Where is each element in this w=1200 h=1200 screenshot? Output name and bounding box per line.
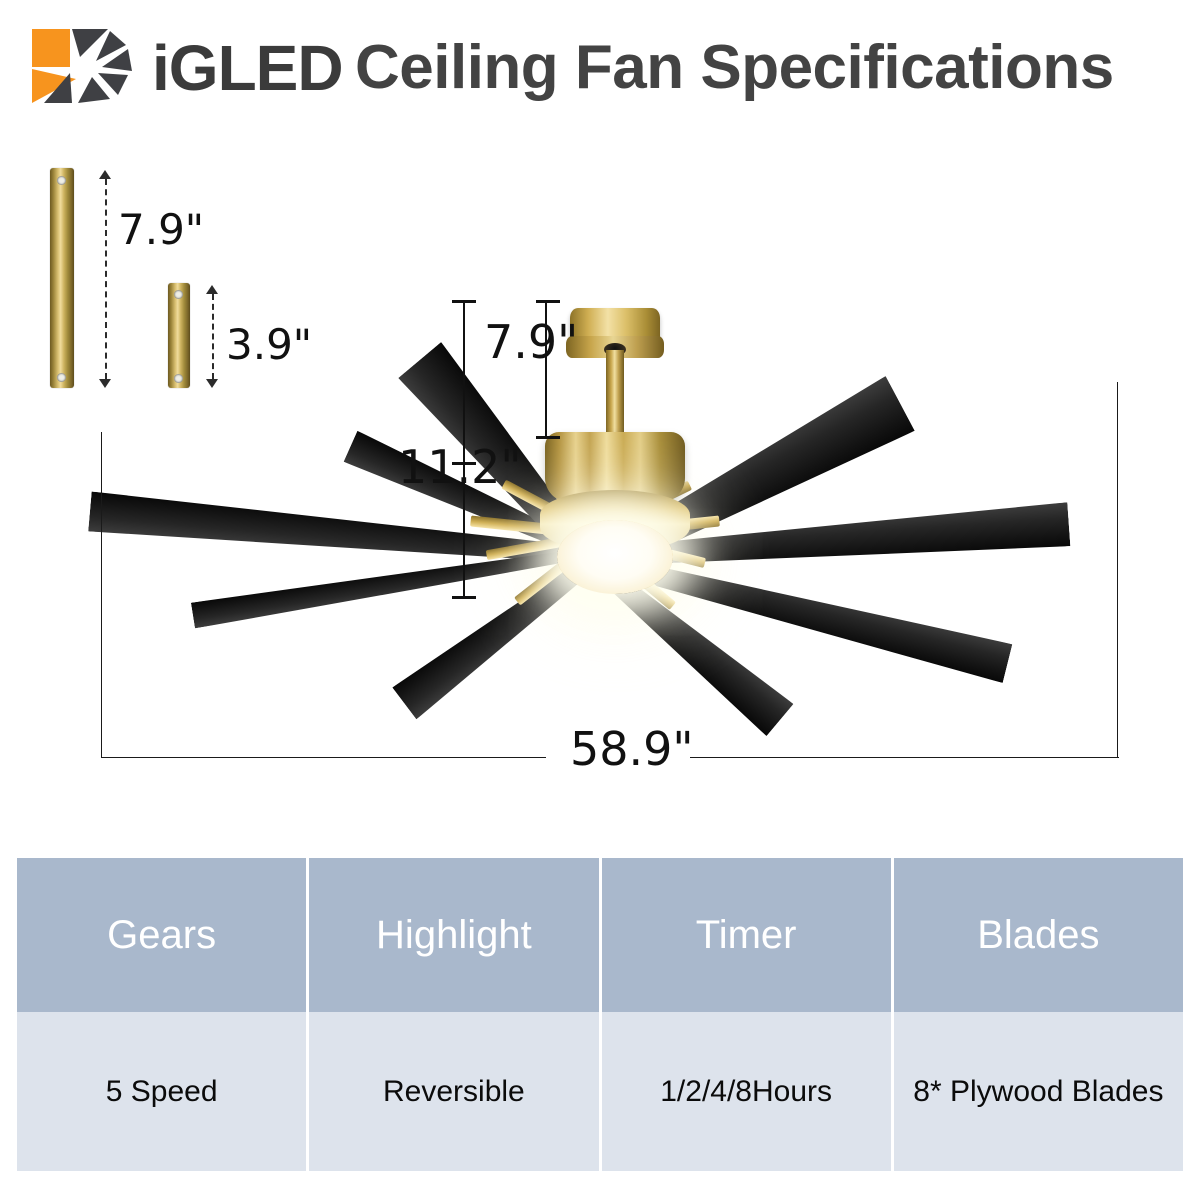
shutter-d-logo-icon	[30, 27, 152, 105]
table-header-timer: Timer	[602, 858, 891, 1012]
dim-label-motor-height: 11.2"	[398, 440, 522, 494]
dim-label-blade-span: 58.9"	[570, 722, 694, 776]
dim-tick-79-right-bottom	[536, 436, 560, 439]
table-cell-highlight: Reversible	[309, 1012, 598, 1171]
page-header: iGLED Ceiling Fan Specifications	[0, 0, 1200, 130]
dim-line-79-left	[463, 300, 465, 462]
dim-label-canopy-height: 7.9"	[484, 315, 578, 369]
page-title: Ceiling Fan Specifications	[355, 32, 1114, 104]
ceiling-fan-illustration	[0, 150, 1200, 790]
led-light	[557, 520, 673, 594]
table-row: 5 Speed Reversible 1/2/4/8Hours 8* Plywo…	[17, 1012, 1183, 1171]
span-extension-left	[101, 432, 102, 757]
table-cell-timer: 1/2/4/8Hours	[602, 1012, 891, 1171]
brand-name: iGLED	[152, 32, 343, 104]
table-header-highlight: Highlight	[309, 858, 598, 1012]
span-extension-right	[1117, 382, 1118, 757]
span-line-left	[101, 757, 546, 758]
table-header-row: Gears Highlight Timer Blades	[17, 858, 1183, 1012]
table-header-gears: Gears	[17, 858, 306, 1012]
table-header-blades: Blades	[894, 858, 1183, 1012]
span-line-right	[690, 757, 1119, 758]
fan-downrod	[606, 350, 624, 436]
table-cell-gears: 5 Speed	[17, 1012, 306, 1171]
specifications-table: Gears Highlight Timer Blades 5 Speed Rev…	[14, 858, 1186, 1171]
dim-tick-112-bottom	[452, 596, 476, 599]
table-cell-blades: 8* Plywood Blades	[894, 1012, 1183, 1171]
dim-tick-79-right-top	[536, 300, 560, 303]
